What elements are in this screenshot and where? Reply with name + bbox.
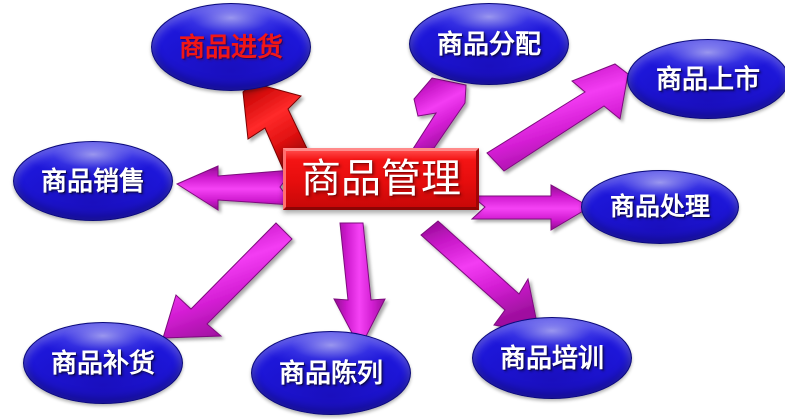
arrow-to-peixun — [421, 221, 539, 333]
node-product-processing[interactable]: 商品处理 — [581, 170, 739, 244]
node-label-product-launch: 商品上市 — [656, 66, 760, 92]
node-label-product-sales: 商品销售 — [41, 168, 145, 194]
arrow-to-chuli — [472, 185, 590, 230]
node-product-purchasing[interactable]: 商品进货 — [151, 3, 311, 91]
node-product-training[interactable]: 商品培训 — [472, 317, 632, 399]
node-product-launch[interactable]: 商品上市 — [627, 39, 785, 119]
arrow-to-xiaoshou — [177, 166, 293, 210]
node-label-product-replenishment: 商品补货 — [51, 350, 155, 376]
arrow-to-chenlie — [334, 223, 385, 348]
node-label-product-purchasing: 商品进货 — [179, 34, 283, 60]
center-node-label: 商品管理 — [301, 159, 461, 199]
arrow-to-buhuo — [163, 223, 292, 338]
node-product-sales[interactable]: 商品销售 — [13, 141, 173, 221]
node-label-product-allocation: 商品分配 — [437, 31, 541, 57]
node-label-product-processing: 商品处理 — [610, 195, 710, 220]
node-product-allocation[interactable]: 商品分配 — [409, 3, 569, 85]
node-label-product-display: 商品陈列 — [279, 360, 383, 386]
node-product-replenishment[interactable]: 商品补货 — [23, 322, 183, 404]
node-label-product-training: 商品培训 — [500, 345, 604, 371]
arrow-to-fenpei — [411, 78, 466, 152]
node-product-display[interactable]: 商品陈列 — [251, 331, 411, 415]
center-node-product-management[interactable]: 商品管理 — [283, 148, 479, 210]
diagram-canvas: 商品管理 商品进货 商品分配 商品上市 商品处理 商品销售 商品补货 商品陈列 … — [0, 0, 785, 419]
